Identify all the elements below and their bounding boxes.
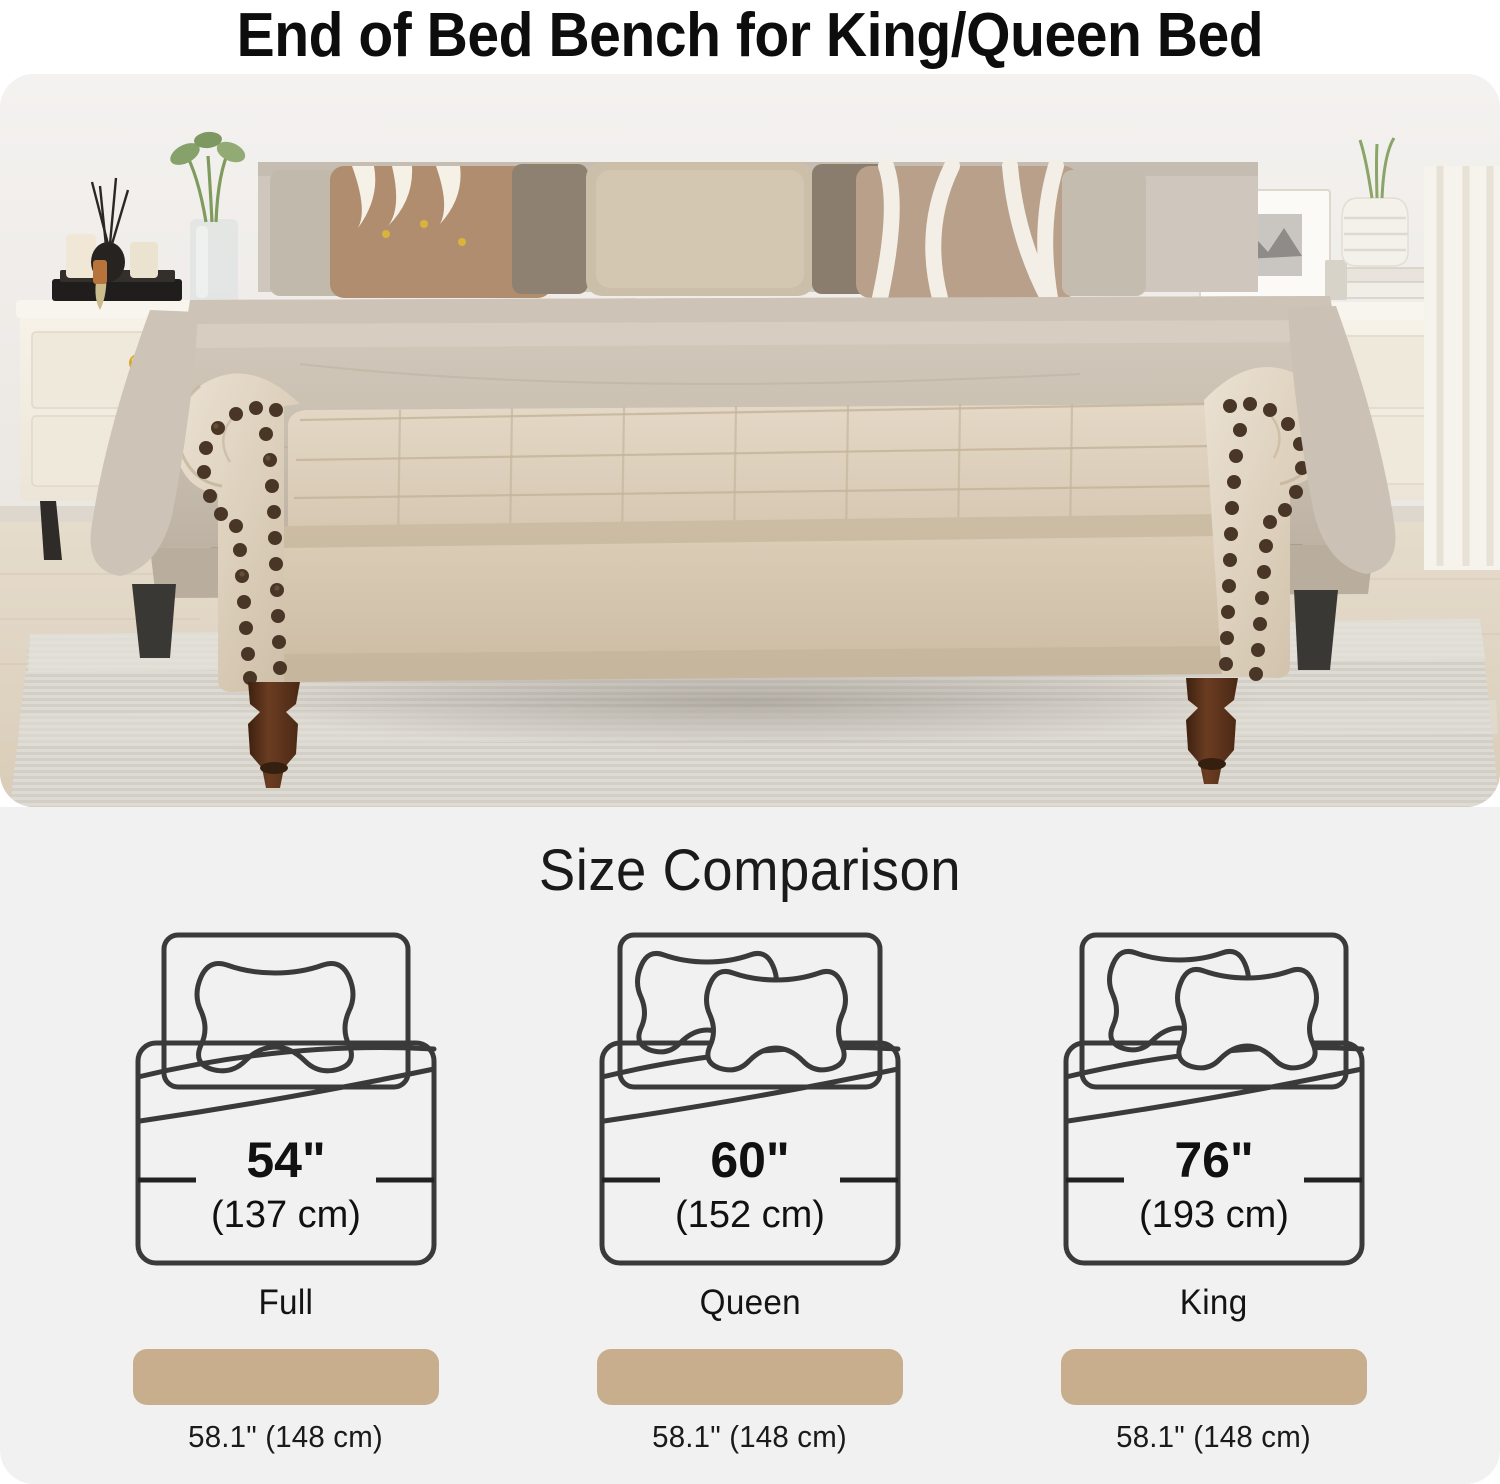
size-comparison-columns: 54" (137 cm) Full 58.1" (148 cm) <box>0 927 1500 1455</box>
bed-column-full: 54" (137 cm) Full 58.1" (148 cm) <box>130 927 442 1455</box>
bed-width-cm: (137 cm) <box>211 1194 361 1236</box>
bed-width-cm: (152 cm) <box>675 1194 825 1236</box>
page-title: End of Bed Bench for King/Queen Bed <box>237 5 1264 67</box>
bed-diagram-king: 76" (193 cm) <box>1058 927 1370 1277</box>
bed-width-inches: 54" <box>246 1132 325 1188</box>
hero-product-photo <box>0 74 1500 807</box>
bench-dimension-king: 58.1" (148 cm) <box>1117 1419 1312 1455</box>
bed-size-label-full: Full <box>259 1283 314 1323</box>
bed-diagram-queen: 60" (152 cm) <box>594 927 906 1277</box>
size-comparison-panel: Size Comparison 54" (137 cm) Full <box>0 807 1500 1484</box>
bench-bar-full <box>133 1349 439 1405</box>
decorative-pillows <box>270 162 1146 298</box>
bed-size-label-queen: Queen <box>699 1283 800 1323</box>
bed-width-inches: 76" <box>1174 1132 1253 1188</box>
bench-bar-queen <box>597 1349 903 1405</box>
bed-column-queen: 60" (152 cm) Queen 58.1" (148 cm) <box>594 927 906 1455</box>
bed-width-inches: 60" <box>710 1132 789 1188</box>
size-comparison-heading: Size Comparison <box>45 837 1455 904</box>
bench-dimension-full: 58.1" (148 cm) <box>189 1419 384 1455</box>
bed-diagram-full: 54" (137 cm) <box>130 927 442 1277</box>
bench-dimension-queen: 58.1" (148 cm) <box>653 1419 848 1455</box>
bed-width-cm: (193 cm) <box>1139 1194 1289 1236</box>
bench-bar-king <box>1061 1349 1367 1405</box>
bed-column-king: 76" (193 cm) King 58.1" (148 cm) <box>1058 927 1370 1455</box>
title-bar: End of Bed Bench for King/Queen Bed <box>0 0 1500 72</box>
bed-size-label-king: King <box>1180 1283 1248 1323</box>
bedroom-scene-illustration <box>0 74 1500 807</box>
